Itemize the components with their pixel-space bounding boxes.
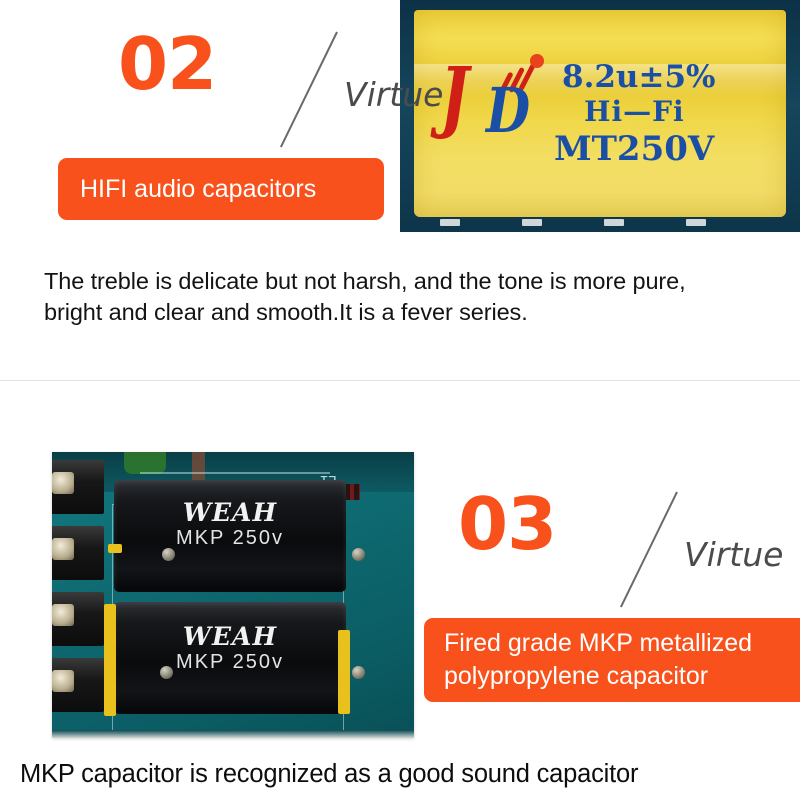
- hifi-grade-marking: Hi—Fi: [584, 98, 685, 126]
- capacitor-spec: MKP 250v: [114, 650, 346, 674]
- weah-capacitor-2: WEAH MKP 250v: [114, 602, 346, 714]
- capacitor-leads: [414, 216, 786, 226]
- heading-slash-icon: [620, 492, 678, 608]
- terminal-1: [52, 460, 104, 514]
- mkp-capacitor-tag: Fired grade MKP metallized polypropylene…: [424, 618, 800, 702]
- green-component: [124, 452, 166, 474]
- solder-joint: [162, 548, 175, 561]
- virtue-label: Virtue: [344, 78, 443, 111]
- weah-capacitor-1: WEAH MKP 250v: [114, 480, 346, 592]
- terminal-3: [52, 592, 104, 646]
- solder-joint: [352, 666, 365, 679]
- solder-joint: [352, 548, 365, 561]
- heading-slash-icon: [280, 32, 338, 148]
- product-detail-page: J D 8.2u±5% Hi—Fi MT250V 02 Virtue HIFI …: [0, 0, 800, 800]
- brand-logo-d-icon: D: [486, 80, 530, 142]
- terminal-2: [52, 526, 104, 580]
- capacitor-lead: [338, 630, 350, 714]
- tag-label: HIFI audio capacitors: [80, 173, 316, 206]
- capacitance-marking: 8.2u±5%: [562, 62, 715, 93]
- capacitor-printed-markings: J D 8.2u±5% Hi—Fi MT250V: [434, 52, 764, 172]
- virtue-label: Virtue: [684, 538, 783, 571]
- capacitor-lead: [108, 544, 122, 553]
- capacitor-brand: WEAH: [114, 624, 346, 650]
- voltage-marking: MT250V: [554, 132, 714, 166]
- solder-joint: [160, 666, 173, 679]
- tag-label: Fired grade MKP metallized polypropylene…: [444, 627, 752, 693]
- pcb-trace: [140, 472, 330, 474]
- pcb-bottom-edge: [52, 730, 414, 738]
- capacitor-brand: WEAH: [114, 500, 346, 526]
- crossover-pcb-photo: L1 + − + − WEAH MKP 250v WEAH MKP: [52, 452, 414, 738]
- section-number: 02: [118, 28, 216, 100]
- hifi-audio-capacitors-tag: HIFI audio capacitors: [58, 158, 384, 220]
- screw-terminal-block: [52, 460, 106, 732]
- section-heading-03: 03 Virtue: [458, 488, 728, 588]
- section-divider: [0, 380, 800, 381]
- yellow-mkp-capacitor-photo: J D 8.2u±5% Hi—Fi MT250V: [400, 0, 800, 232]
- flame-dot-icon: [530, 54, 544, 68]
- capacitor-spec: MKP 250v: [114, 526, 346, 550]
- capacitor-lead: [104, 604, 116, 716]
- section-02-description: The treble is delicate but not harsh, an…: [44, 266, 764, 328]
- terminal-4: [52, 658, 104, 712]
- section-heading-02: 02 Virtue: [118, 28, 388, 128]
- brand-logo-j-icon: J: [440, 58, 469, 136]
- section-number: 03: [458, 488, 556, 560]
- bottom-caption: MKP capacitor is recognized as a good so…: [20, 758, 800, 790]
